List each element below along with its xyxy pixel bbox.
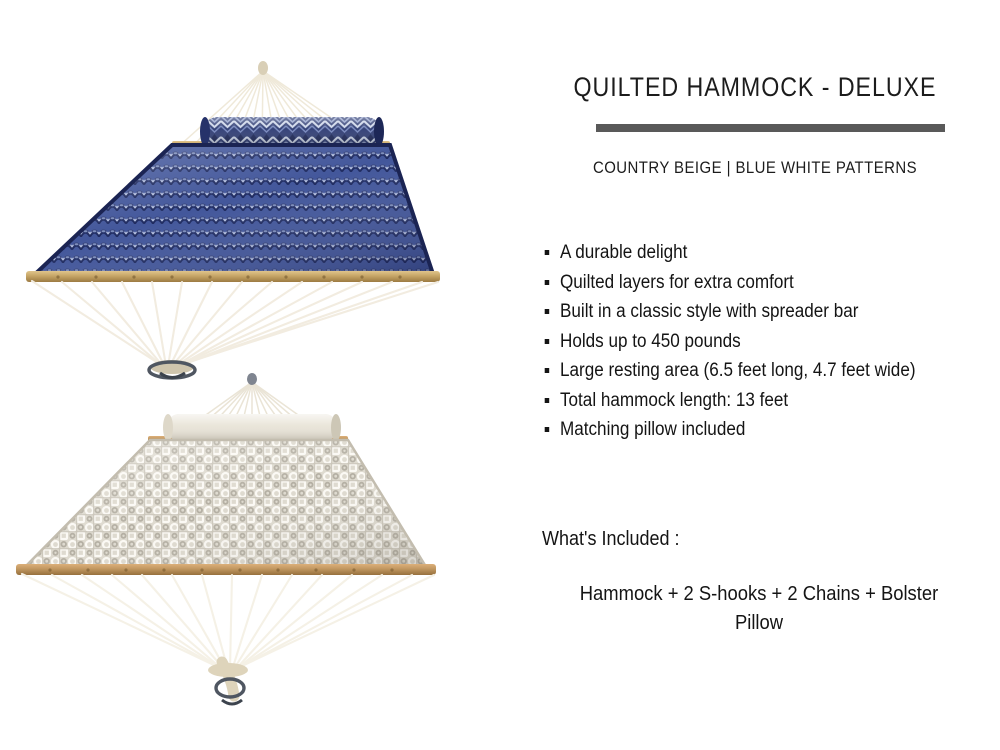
front-rope-fan	[32, 281, 438, 366]
rear-rope-knot	[258, 61, 268, 75]
bullet-icon	[545, 339, 550, 344]
bullet-icon	[545, 368, 550, 373]
product-image-beige-hammock	[0, 370, 520, 710]
bullet-icon	[545, 398, 550, 403]
quilt-bed-beige	[22, 440, 428, 570]
list-item: Matching pillow included	[542, 417, 952, 443]
title-divider	[596, 124, 945, 132]
beige-hammock-illustration	[0, 370, 520, 710]
feature-text: A durable delight	[560, 242, 687, 263]
list-item: Quilted layers for extra comfort	[542, 270, 952, 296]
product-listing-page: QUILTED HAMMOCK - DELUXE COUNTRY BEIGE |…	[0, 0, 1000, 750]
feature-text: Large resting area (6.5 feet long, 4.7 f…	[560, 360, 916, 381]
product-image-blue-hammock	[0, 55, 520, 395]
s-hook-ring	[208, 662, 248, 704]
included-heading: What's Included :	[542, 528, 680, 551]
product-subtitle: COUNTRY BEIGE | BLUE WHITE PATTERNS	[548, 158, 962, 178]
bullet-icon	[545, 250, 550, 255]
bolster-pillow-beige	[163, 414, 341, 441]
page-title: QUILTED HAMMOCK - DELUXE	[553, 72, 957, 103]
list-item: Total hammock length: 13 feet	[542, 388, 952, 414]
near-spreader-bar	[26, 271, 440, 282]
list-item: A durable delight	[542, 240, 952, 266]
blue-hammock-illustration	[0, 55, 520, 395]
feature-text: Matching pillow included	[560, 419, 745, 440]
feature-text: Quilted layers for extra comfort	[560, 272, 794, 293]
included-contents: Hammock + 2 S-hooks + 2 Chains + Bolster…	[556, 580, 963, 638]
feature-text: Built in a classic style with spreader b…	[560, 301, 858, 322]
product-image-column	[0, 0, 520, 750]
near-spreader-bar	[16, 564, 436, 575]
bullet-icon	[545, 280, 550, 285]
front-rope-fan	[22, 574, 434, 670]
list-item: Holds up to 450 pounds	[542, 329, 952, 355]
bullet-icon	[545, 427, 550, 432]
quilt-bed-blue	[32, 145, 434, 277]
feature-text: Total hammock length: 13 feet	[560, 390, 788, 411]
feature-text: Holds up to 450 pounds	[560, 331, 741, 352]
bolster-pillow-blue	[200, 117, 384, 146]
bullet-icon	[545, 309, 550, 314]
rear-rope-knot	[247, 373, 257, 385]
feature-list: A durable delight Quilted layers for ext…	[542, 240, 997, 447]
product-info-column: QUILTED HAMMOCK - DELUXE COUNTRY BEIGE |…	[520, 0, 1000, 750]
list-item: Large resting area (6.5 feet long, 4.7 f…	[542, 358, 952, 384]
list-item: Built in a classic style with spreader b…	[542, 299, 952, 325]
